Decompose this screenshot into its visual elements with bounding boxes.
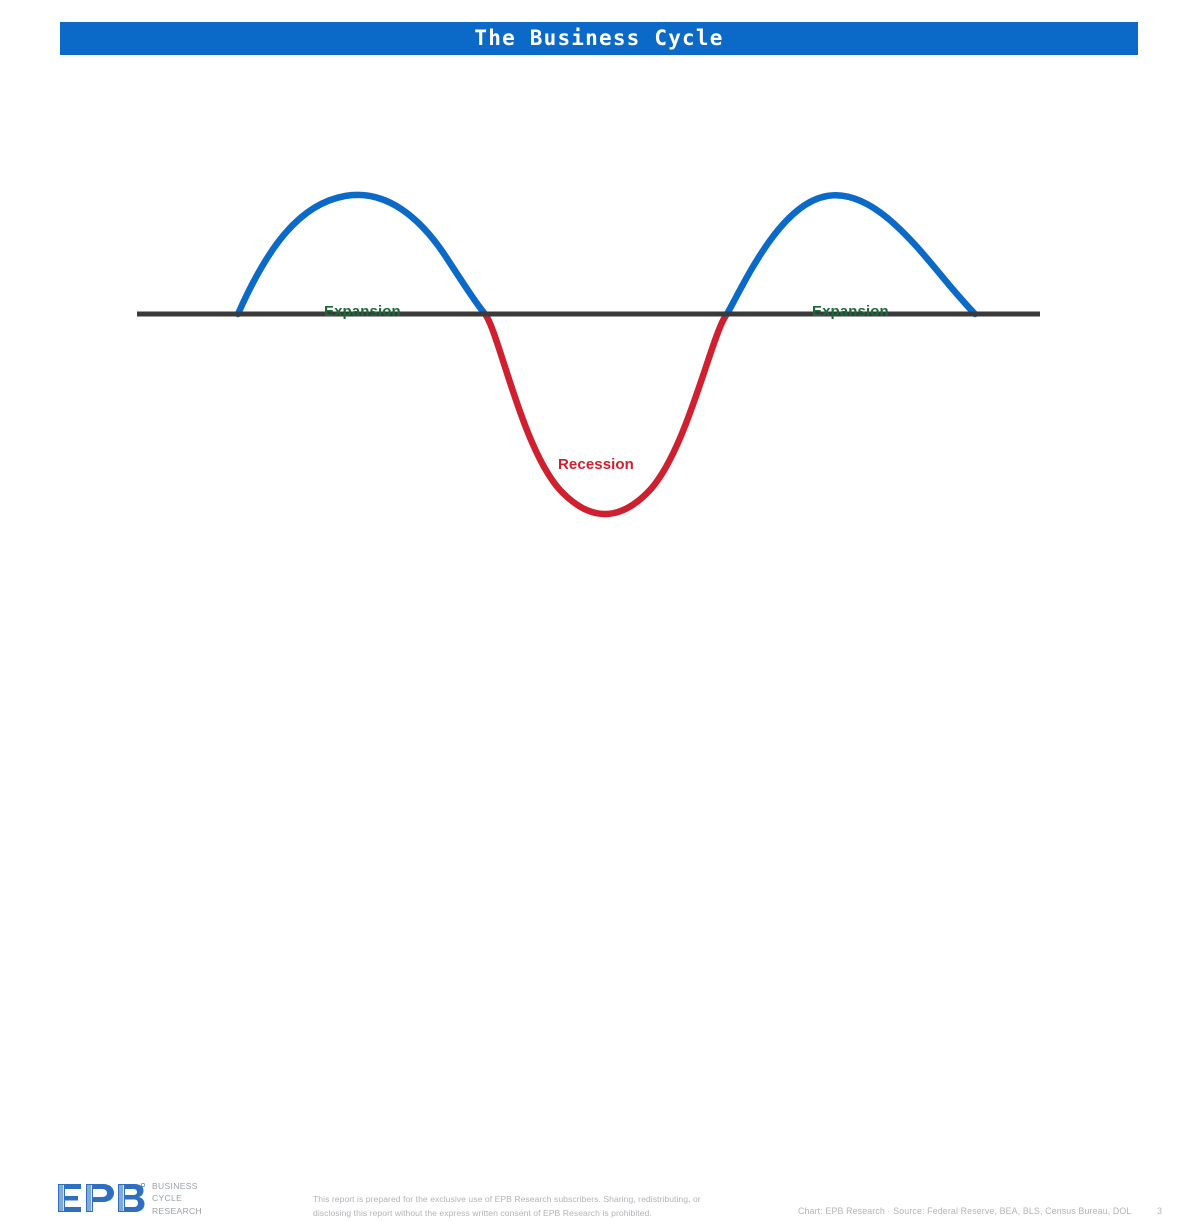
label-expansion-second: Expansion bbox=[812, 303, 889, 320]
label-expansion-first: Expansion bbox=[324, 303, 401, 320]
slide-footer: BUSINESS CYCLE RESEARCH This report is p… bbox=[0, 585, 1199, 665]
disclaimer-line-1: This report is prepared for the exclusiv… bbox=[313, 1193, 743, 1207]
epb-logo: BUSINESS CYCLE RESEARCH bbox=[57, 1177, 202, 1219]
business-cycle-chart: Expansion Recession Expansion bbox=[0, 60, 1199, 580]
chart-source-attribution: Chart: EPB Research · Source: Federal Re… bbox=[798, 1206, 1131, 1216]
logo-tagline-line-2: CYCLE bbox=[152, 1192, 202, 1204]
epb-logo-tagline: BUSINESS CYCLE RESEARCH bbox=[152, 1180, 202, 1217]
curve-expansion-2 bbox=[727, 195, 975, 314]
curve-recession bbox=[485, 314, 727, 514]
legal-disclaimer: This report is prepared for the exclusiv… bbox=[313, 1193, 743, 1221]
logo-tagline-line-1: BUSINESS bbox=[152, 1180, 202, 1192]
epb-logo-mark bbox=[57, 1177, 145, 1219]
page-number: 3 bbox=[1157, 1206, 1162, 1216]
label-recession: Recession bbox=[558, 456, 634, 473]
logo-tagline-line-3: RESEARCH bbox=[152, 1205, 202, 1217]
chart-svg bbox=[0, 60, 1199, 580]
slide-title-banner: The Business Cycle bbox=[60, 22, 1138, 55]
curve-expansion-1 bbox=[238, 195, 485, 314]
disclaimer-line-2: disclosing this report without the expre… bbox=[313, 1207, 743, 1221]
page-title: The Business Cycle bbox=[474, 28, 723, 49]
